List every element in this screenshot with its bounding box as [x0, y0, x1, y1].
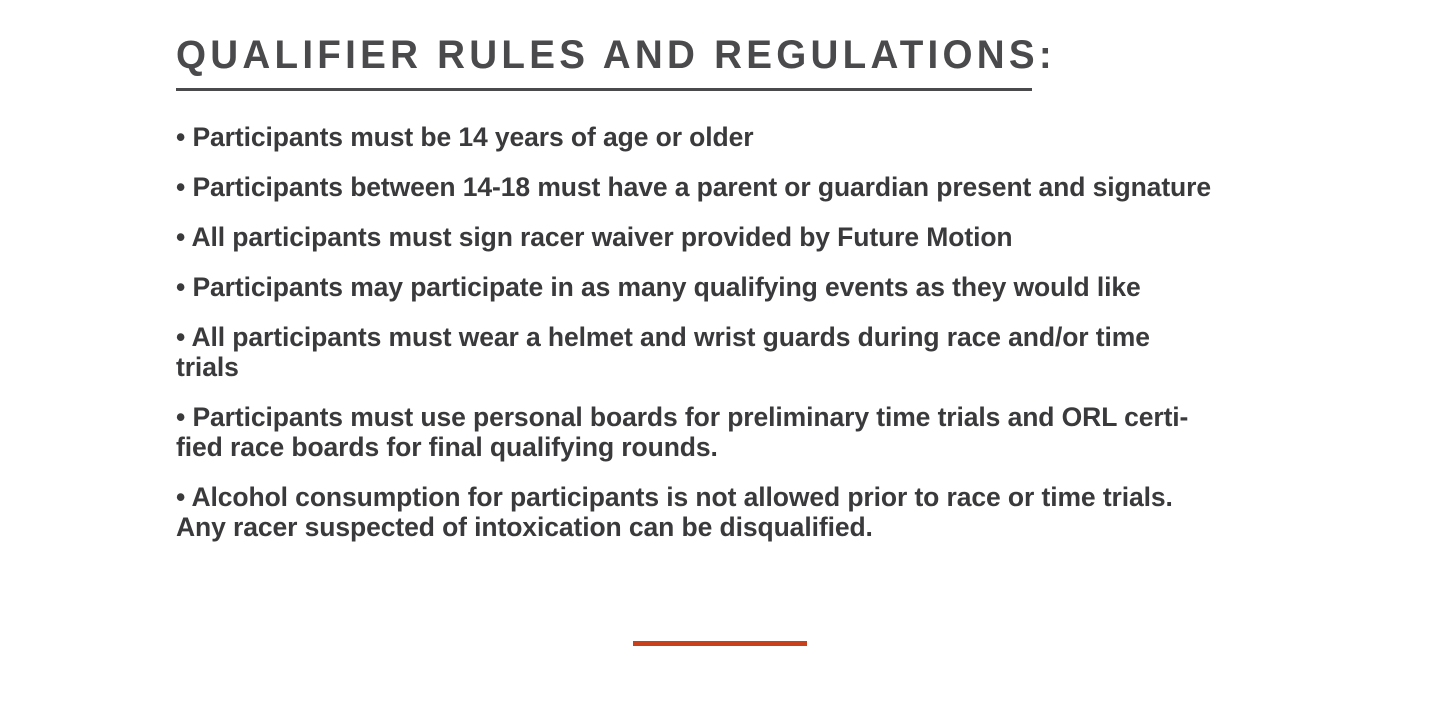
- rules-list: • Participants must be 14 years of age o…: [176, 122, 1291, 542]
- rule-line: • Participants may participate in as man…: [176, 272, 1291, 302]
- page-title: QUALIFIER RULES AND REGULATIONS:: [176, 34, 1006, 77]
- list-item: • Alcohol consumption for participants i…: [176, 482, 1291, 542]
- rule-line: • Participants must use personal boards …: [176, 402, 1291, 432]
- rule-line: • Participants between 14-18 must have a…: [176, 172, 1291, 202]
- list-item: • All participants must wear a helmet an…: [176, 322, 1291, 382]
- rule-line: fied race boards for final qualifying ro…: [176, 432, 1291, 462]
- rule-line: • Alcohol consumption for participants i…: [176, 482, 1291, 512]
- rule-line: trials: [176, 352, 1291, 382]
- list-item: • Participants between 14-18 must have a…: [176, 172, 1291, 202]
- slide-canvas: QUALIFIER RULES AND REGULATIONS: • Parti…: [0, 0, 1440, 718]
- rule-line: • All participants must sign racer waive…: [176, 222, 1291, 252]
- list-item: • Participants must be 14 years of age o…: [176, 122, 1291, 152]
- rule-line: • All participants must wear a helmet an…: [176, 322, 1291, 352]
- bottom-accent-bar: [633, 641, 807, 646]
- title-block: QUALIFIER RULES AND REGULATIONS:: [176, 34, 1036, 91]
- rule-line: Any racer suspected of intoxication can …: [176, 512, 1291, 542]
- list-item: • Participants may participate in as man…: [176, 272, 1291, 302]
- title-underline-rule: [176, 88, 1032, 91]
- list-item: • Participants must use personal boards …: [176, 402, 1291, 462]
- rule-line: • Participants must be 14 years of age o…: [176, 122, 1291, 152]
- list-item: • All participants must sign racer waive…: [176, 222, 1291, 252]
